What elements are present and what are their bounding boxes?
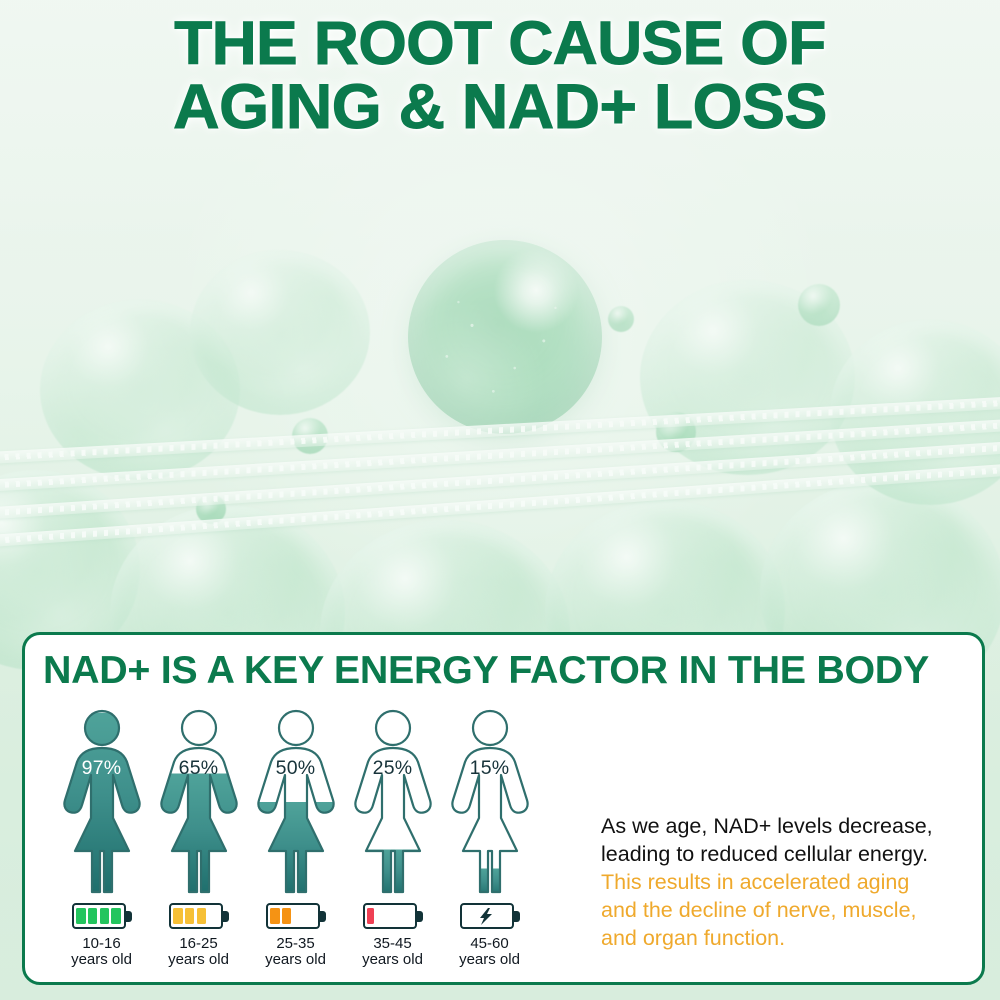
person-figure-2: 65% (156, 707, 242, 897)
battery-body (72, 903, 126, 929)
percent-label-3: 50% (253, 757, 339, 780)
description-accent-line-1: This results in accelerated aging (601, 869, 985, 897)
page-title: THE ROOT CAUSE OF AGING & NAD+ LOSS (0, 14, 1000, 138)
battery-segment-filled (185, 908, 194, 925)
age-unit: years old (71, 952, 132, 968)
battery-segment-filled (282, 908, 291, 925)
battery-body (266, 903, 320, 929)
age-unit: years old (265, 952, 326, 968)
card-body: 97%10-16years old65%16-25years old50%25-… (25, 693, 982, 979)
lightning-bolt-icon (464, 908, 509, 925)
battery-segment-empty (389, 908, 399, 925)
age-unit: years old (362, 952, 423, 968)
battery-segment-empty (402, 908, 412, 925)
headline-line-1: THE ROOT CAUSE OF (0, 14, 1000, 73)
battery-body (363, 903, 417, 929)
age-label-5: 45-60years old (459, 936, 520, 968)
headline-line-2: AGING & NAD+ LOSS (0, 77, 1000, 138)
battery-charging-icon (460, 903, 520, 929)
age-unit: years old (168, 952, 229, 968)
percent-label-2: 65% (156, 757, 242, 780)
battery-terminal (417, 911, 423, 922)
age-range: 35-45 (362, 936, 423, 952)
age-label-2: 16-25years old (168, 936, 229, 968)
battery-half-icon (266, 903, 326, 929)
percent-label-5: 15% (447, 757, 533, 780)
battery-terminal (320, 911, 326, 922)
age-label-3: 25-35years old (265, 936, 326, 968)
percent-label-1: 97% (59, 757, 145, 780)
battery-segment-filled (197, 908, 206, 925)
description-accent-line-3: and organ function. (601, 925, 985, 953)
person-figure-1: 97% (59, 707, 145, 897)
battery-segment-filled (173, 908, 182, 925)
card-heading: NAD+ IS A KEY ENERGY FACTOR IN THE BODY (43, 649, 985, 693)
battery-terminal (223, 911, 229, 922)
age-label-4: 35-45years old (362, 936, 423, 968)
battery-low-icon (363, 903, 423, 929)
battery-segment-filled (76, 908, 85, 925)
figure-column-2: 65%16-25years old (150, 707, 247, 968)
age-range: 10-16 (71, 936, 132, 952)
battery-terminal (514, 911, 520, 922)
person-figure-3: 50% (253, 707, 339, 897)
person-figure-4: 25% (350, 707, 436, 897)
age-unit: years old (459, 952, 520, 968)
battery-segment-filled (367, 908, 374, 925)
age-range: 25-35 (265, 936, 326, 952)
battery-body (169, 903, 223, 929)
battery-segment-filled (270, 908, 279, 925)
figure-column-5: 15%45-60years old (441, 707, 538, 968)
figure-column-4: 25%35-45years old (344, 707, 441, 968)
battery-segment-filled (88, 908, 97, 925)
description-accent-line-2: and the decline of nerve, muscle, (601, 897, 985, 925)
description-text: As we age, NAD+ levels decrease, leading… (601, 813, 985, 953)
battery-segment-empty (294, 908, 303, 925)
battery-segment-filled (111, 908, 120, 925)
battery-segment-empty (208, 908, 217, 925)
figure-column-1: 97%10-16years old (53, 707, 150, 968)
age-label-1: 10-16years old (71, 936, 132, 968)
battery-full-icon (72, 903, 132, 929)
battery-segment-empty (305, 908, 314, 925)
figure-chart: 97%10-16years old65%16-25years old50%25-… (53, 707, 538, 968)
figure-column-3: 50%25-35years old (247, 707, 344, 968)
percent-label-4: 25% (350, 757, 436, 780)
age-range: 45-60 (459, 936, 520, 952)
description-plain-line-1: As we age, NAD+ levels decrease, (601, 813, 985, 841)
nad-info-card: NAD+ IS A KEY ENERGY FACTOR IN THE BODY … (22, 632, 985, 985)
battery-segment-filled (100, 908, 109, 925)
description-plain-line-2: leading to reduced cellular energy. (601, 841, 985, 869)
battery-terminal (126, 911, 132, 922)
battery-body (460, 903, 514, 929)
battery-three-quarters-icon (169, 903, 229, 929)
battery-segment-empty (376, 908, 386, 925)
person-figure-5: 15% (447, 707, 533, 897)
age-range: 16-25 (168, 936, 229, 952)
